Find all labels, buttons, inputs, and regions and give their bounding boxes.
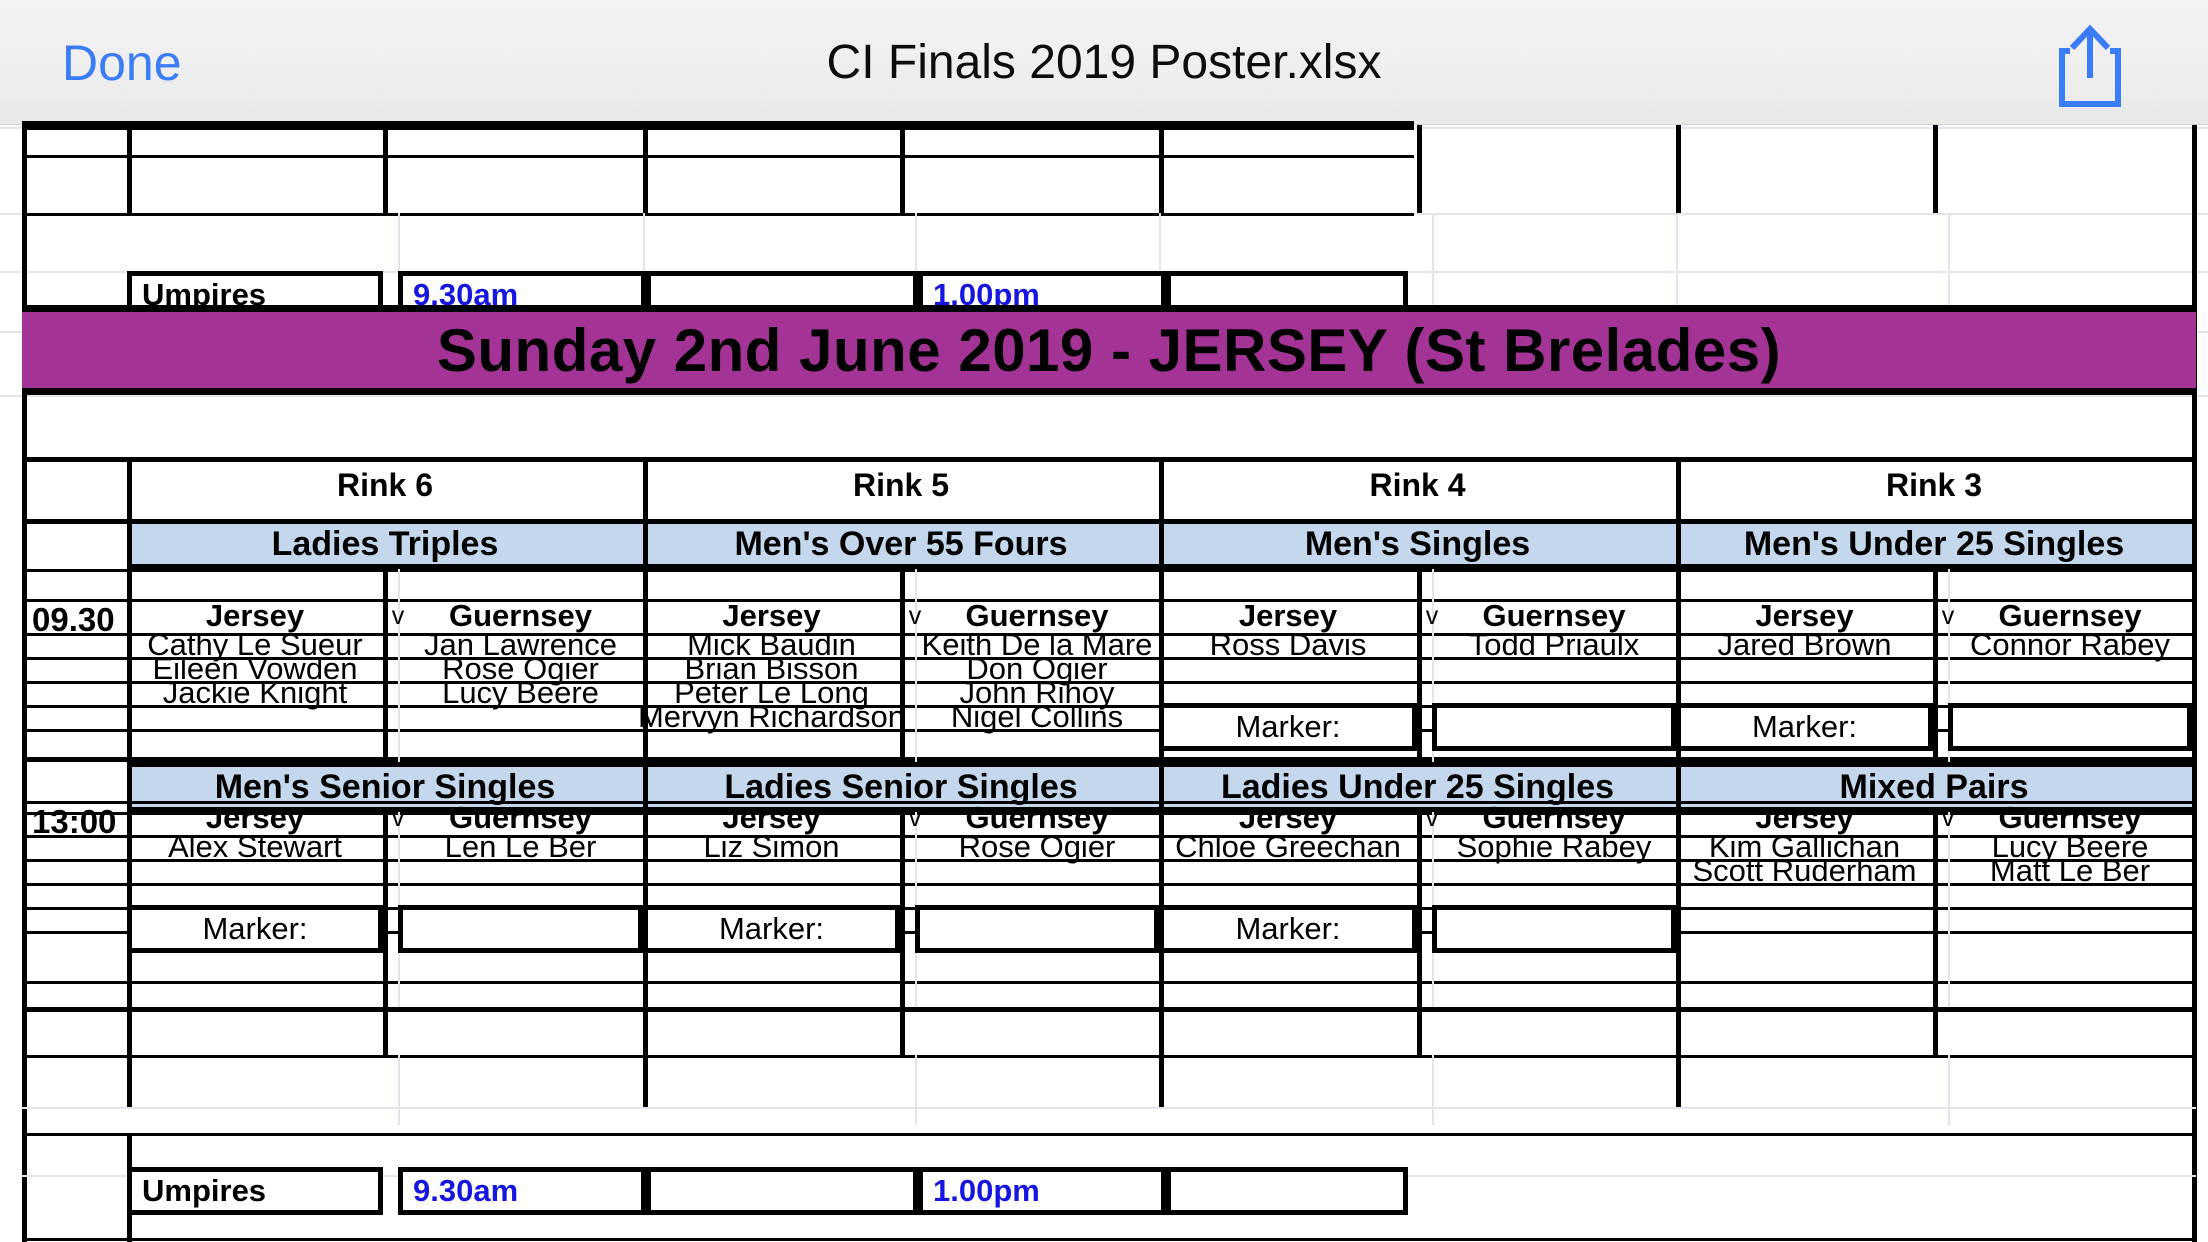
s2-m3-marker-cell-away[interactable] — [1432, 905, 1676, 953]
rule — [643, 1007, 648, 1107]
rule — [127, 1007, 132, 1107]
rule — [22, 1007, 27, 1242]
rule — [127, 125, 132, 213]
session-2-time: 13:00 — [22, 805, 127, 839]
s2-m4-away-player-2: Matt Le Ber — [1948, 859, 2192, 883]
rule — [1159, 125, 1164, 213]
rule — [1676, 519, 1681, 569]
rule — [22, 1133, 2196, 1136]
s2-m1-home-player-1: Alex Stewart — [127, 835, 383, 859]
done-button[interactable]: Done — [62, 0, 182, 125]
rule — [2192, 812, 2197, 1007]
rink-header-4: Rink 4 — [1159, 461, 1676, 527]
rule — [22, 1055, 2196, 1058]
rule — [643, 125, 648, 213]
gridline — [0, 395, 2208, 397]
umpire-time-1-cell-bottom[interactable]: 9.30am — [398, 1167, 646, 1215]
gridline — [915, 1055, 917, 1125]
rule — [22, 121, 1414, 126]
event-band-mens-singles: Men's Singles — [1159, 519, 1676, 569]
rule — [643, 457, 648, 523]
rule — [22, 519, 27, 569]
rule — [22, 569, 2196, 572]
s1-m4-marker-label: Marker: — [1681, 708, 1928, 746]
rule — [383, 1007, 388, 1055]
rule — [1933, 812, 1938, 1007]
s2-m2-marker-label: Marker: — [648, 910, 895, 948]
rule — [1933, 125, 1938, 213]
rule — [2192, 569, 2197, 762]
rule — [1159, 1007, 1164, 1107]
rule — [900, 812, 905, 1007]
rule — [2192, 762, 2197, 812]
date-banner: Sunday 2nd June 2019 - JERSEY (St Brelad… — [22, 305, 2196, 395]
s1-m1-away-player-3: Lucy Beere — [398, 681, 643, 705]
rule — [2192, 519, 2197, 569]
rule — [22, 1238, 2196, 1241]
rule — [900, 125, 905, 213]
s1-m3-marker-cell-home[interactable]: Marker: — [1159, 703, 1417, 751]
rule — [22, 569, 27, 762]
s2-m3-home-player-1: Chloe Greechan — [1159, 835, 1417, 859]
rule — [2192, 395, 2197, 461]
event-band-mens-under-25-singles: Men's Under 25 Singles — [1676, 519, 2192, 569]
s1-m2-home-player-4: Mervyn Richardson — [643, 705, 900, 729]
s2-m1-marker-cell-home[interactable]: Marker: — [127, 905, 383, 953]
rule — [1417, 569, 1422, 762]
event-band-ladies-triples: Ladies Triples — [127, 519, 643, 569]
rule — [383, 569, 388, 762]
umpire-time-1-bottom: 9.30am — [403, 1172, 641, 1210]
s1-m4-marker-cell-away[interactable] — [1948, 703, 2192, 751]
rule — [22, 981, 2196, 984]
rule — [22, 395, 27, 461]
rule — [1417, 812, 1422, 1007]
s2-m1-marker-label: Marker: — [132, 910, 378, 948]
rink-header-3: Rink 3 — [1676, 461, 2192, 527]
top-navigation-bar: CI Finals 2019 Poster.xlsx Done — [0, 0, 2208, 125]
rink-header-5: Rink 5 — [643, 461, 1159, 527]
s1-m3-away-player-1: Todd Priaulx — [1432, 633, 1676, 657]
rule — [22, 155, 1414, 158]
s1-m3-home-player-1: Ross Davis — [1159, 633, 1417, 657]
s2-m1-marker-cell-away[interactable] — [398, 905, 643, 953]
gridline — [1948, 1055, 1950, 1125]
s1-m4-away-player-1: Connor Rabey — [1948, 633, 2192, 657]
session-1-time: 09.30 — [22, 603, 127, 637]
date-banner-text: Sunday 2nd June 2019 - JERSEY (St Brelad… — [437, 316, 1781, 385]
s2-m3-away-player-1: Sophie Rabey — [1432, 835, 1676, 859]
gridline — [398, 1055, 400, 1125]
s1-m2-away-player-4: Nigel Collins — [915, 705, 1159, 729]
rule — [22, 812, 27, 1007]
umpires-label-bottom: Umpires — [132, 1172, 378, 1210]
rule — [22, 457, 27, 523]
rule — [22, 1007, 2196, 1012]
s1-m3-marker-label: Marker: — [1164, 708, 1412, 746]
umpire-blank-2-cell-bottom[interactable] — [1166, 1167, 1408, 1215]
document-title: CI Finals 2019 Poster.xlsx — [0, 0, 2208, 125]
rule — [1676, 1007, 1681, 1107]
rule — [2192, 1007, 2197, 1242]
gridline — [22, 1107, 2196, 1109]
umpire-blank-1-cell-bottom[interactable] — [646, 1167, 918, 1215]
rink-header-6: Rink 6 — [127, 461, 643, 527]
rule — [1933, 1007, 1938, 1055]
share-icon[interactable] — [2044, 18, 2136, 110]
gridline — [1432, 1055, 1434, 1125]
s1-m3-marker-cell-away[interactable] — [1432, 703, 1676, 751]
umpires-cell-bottom[interactable]: Umpires — [127, 1167, 383, 1215]
s2-m3-marker-label: Marker: — [1164, 910, 1412, 948]
rule — [900, 1007, 905, 1055]
s2-m2-marker-cell-away[interactable] — [915, 905, 1159, 953]
rule — [127, 457, 132, 523]
rule — [643, 519, 648, 569]
rule — [1159, 457, 1164, 523]
s2-m1-away-player-1: Len Le Ber — [398, 835, 643, 859]
spreadsheet-canvas[interactable]: Umpires 9.30am 1.00pm Sunday 2nd June 20… — [0, 125, 2208, 1242]
s2-m2-home-player-1: Liz Simon — [643, 835, 900, 859]
s2-m4-home-player-2: Scott Ruderham — [1676, 859, 1933, 883]
rule — [383, 812, 388, 1007]
rule — [1676, 457, 1681, 523]
s2-m2-marker-cell-home[interactable]: Marker: — [643, 905, 900, 953]
s1-m1-home-player-3: Jackie Knight — [127, 681, 383, 705]
event-band-mens-over-55-fours: Men's Over 55 Fours — [643, 519, 1159, 569]
rule — [1159, 519, 1164, 569]
rule — [1933, 569, 1938, 762]
umpire-time-2-bottom: 1.00pm — [923, 1172, 1161, 1210]
s1-m4-home-player-1: Jared Brown — [1676, 633, 1933, 657]
rule — [127, 519, 132, 569]
rule — [22, 213, 1414, 216]
rule — [383, 125, 388, 213]
rule — [1417, 125, 1422, 213]
rule — [1676, 125, 1681, 213]
rule — [2192, 457, 2197, 523]
s2-m2-away-player-1: Rose Ogier — [915, 835, 1159, 859]
rule — [1417, 1007, 1422, 1055]
s2-m3-marker-cell-home[interactable]: Marker: — [1159, 905, 1417, 953]
umpire-time-2-cell-bottom[interactable]: 1.00pm — [918, 1167, 1166, 1215]
s1-m4-marker-cell-home[interactable]: Marker: — [1676, 703, 1933, 751]
